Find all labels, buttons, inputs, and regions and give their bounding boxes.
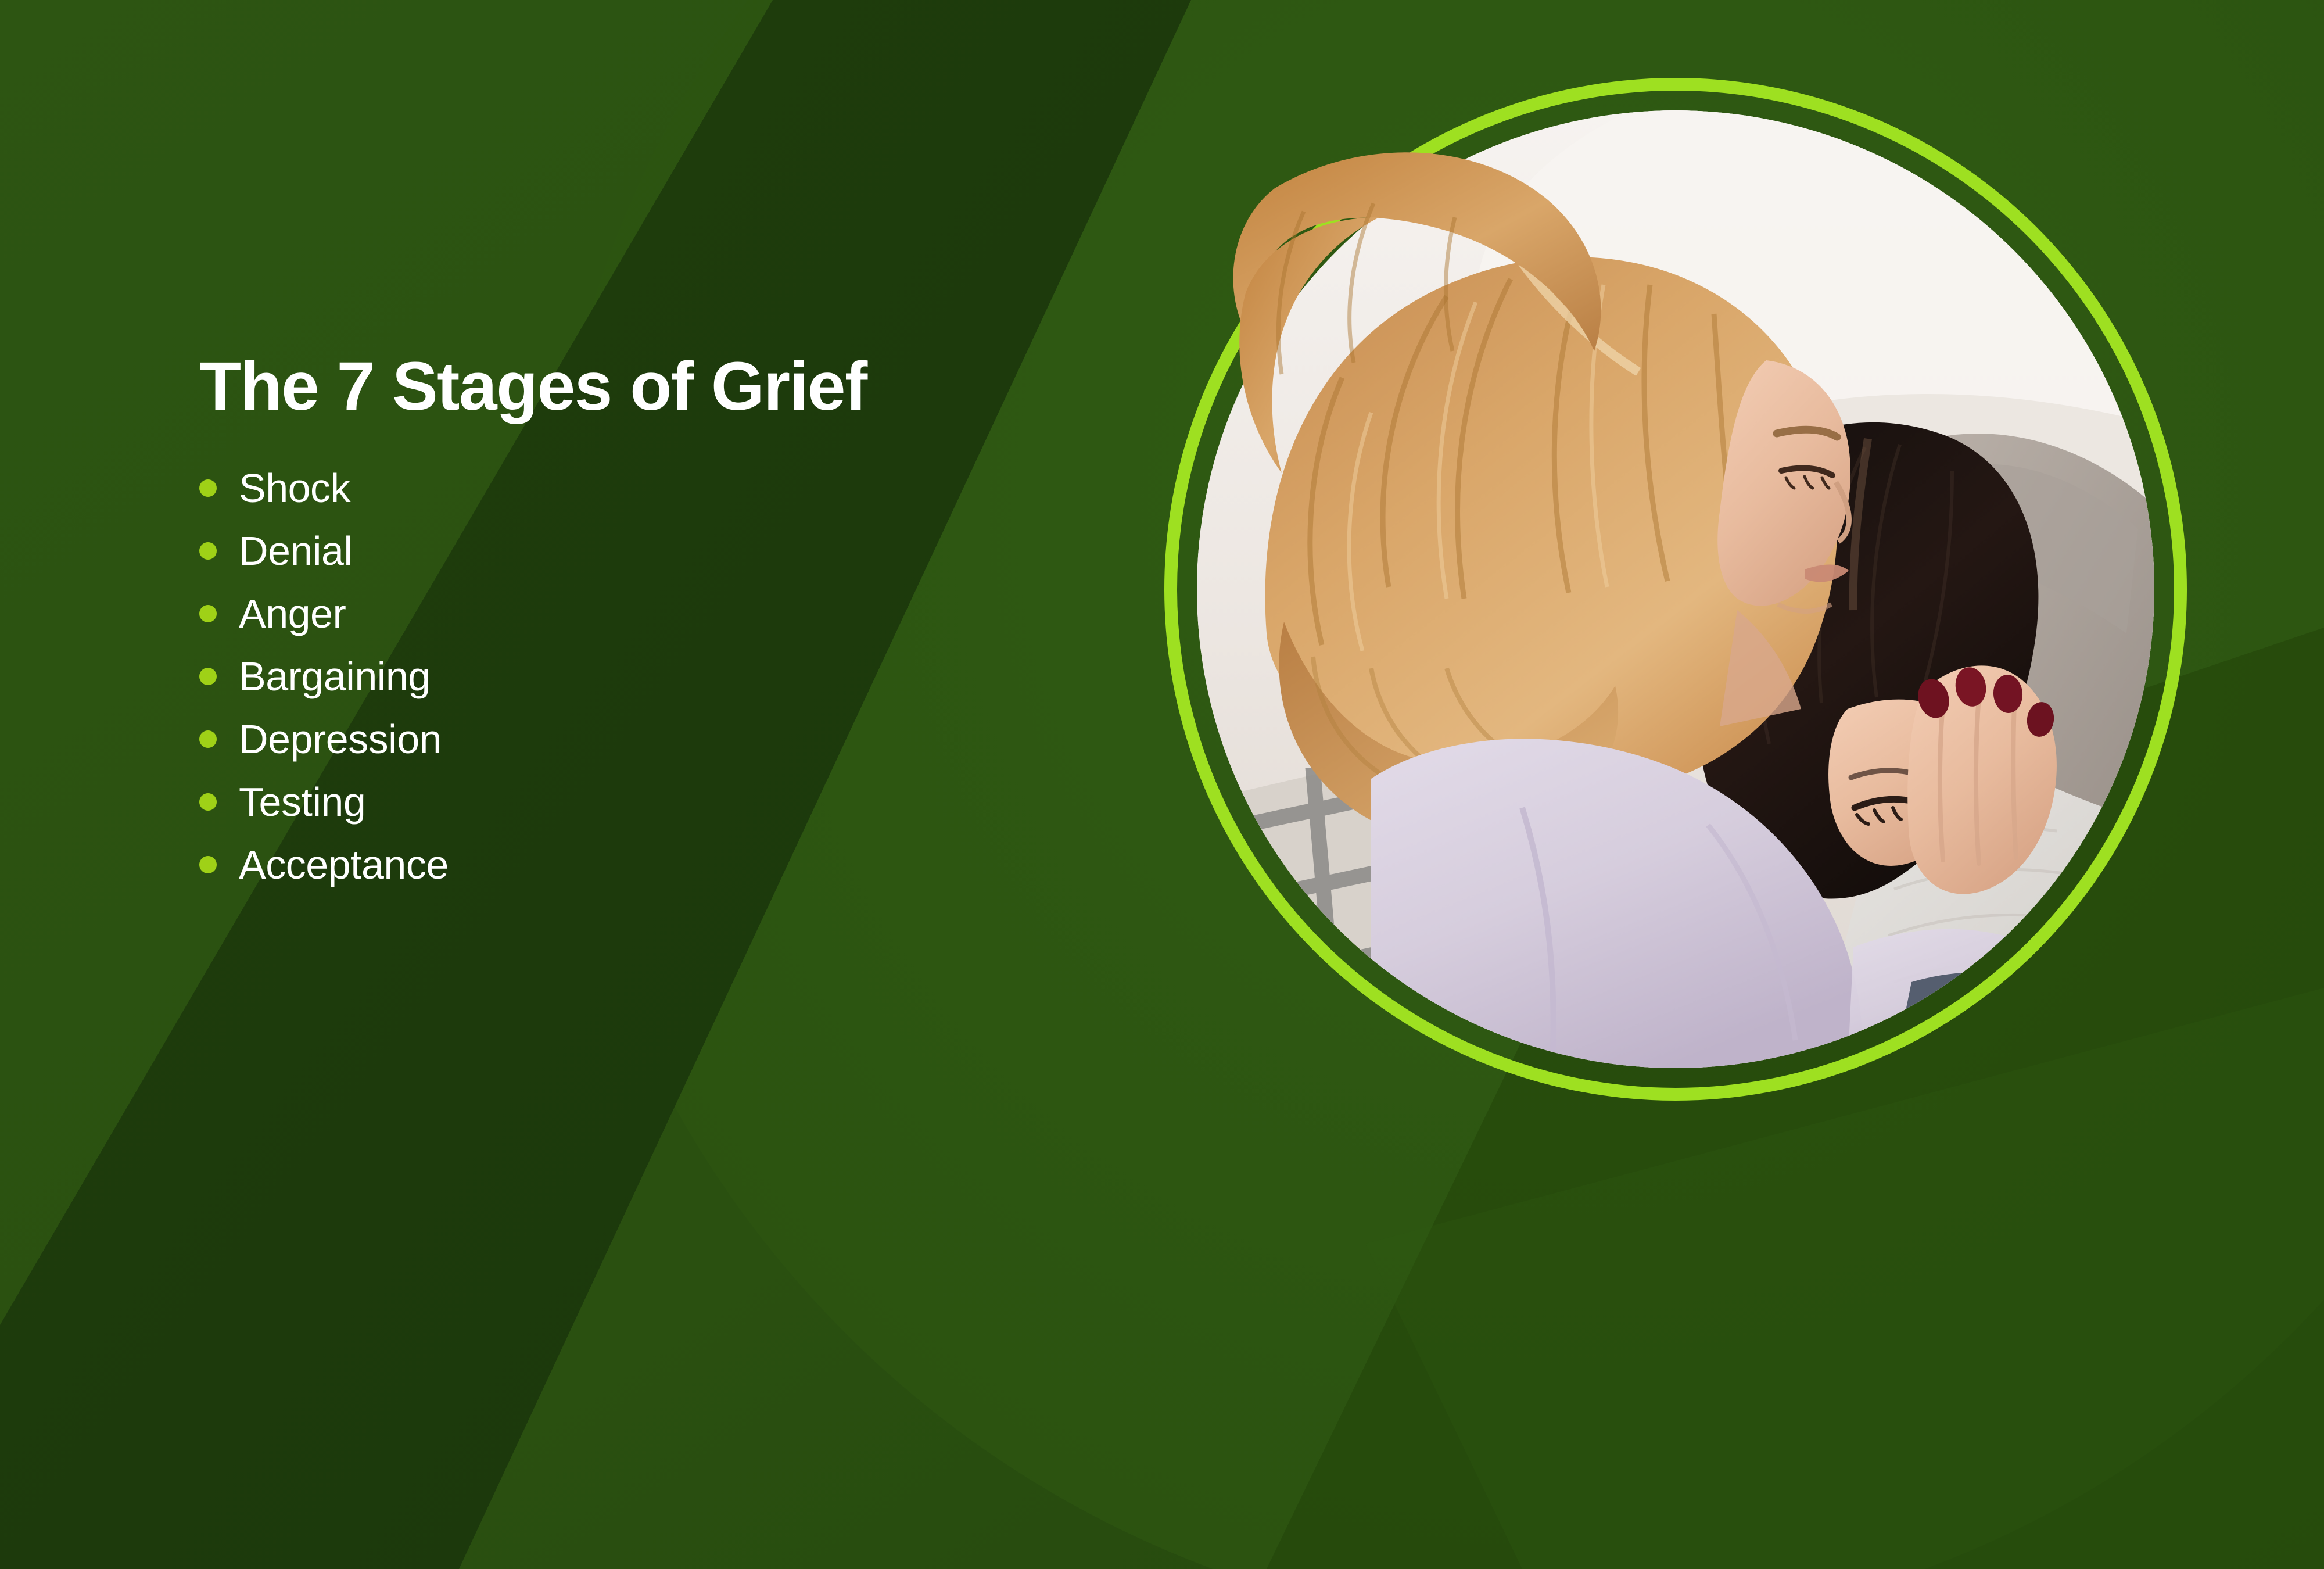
stage-label: Anger — [239, 593, 346, 634]
bullet-dot-icon — [199, 668, 217, 685]
stage-label: Bargaining — [239, 656, 431, 697]
list-item: Testing — [199, 771, 1071, 833]
bullet-dot-icon — [199, 605, 217, 622]
bullet-dot-icon — [199, 542, 217, 560]
list-item: Acceptance — [199, 833, 1071, 896]
stage-label: Shock — [239, 468, 350, 508]
stage-label: Denial — [239, 531, 352, 571]
text-content-column: The 7 Stages of Grief Shock Denial Anger… — [199, 351, 1071, 896]
bullet-dot-icon — [199, 730, 217, 748]
bullet-dot-icon — [199, 479, 217, 497]
list-item: Shock — [199, 457, 1071, 520]
list-item: Anger — [199, 582, 1071, 645]
bullet-dot-icon — [199, 856, 217, 873]
stage-label: Depression — [239, 719, 442, 760]
stage-label: Testing — [239, 782, 365, 822]
list-item: Denial — [199, 520, 1071, 582]
stage-label: Acceptance — [239, 844, 449, 885]
photo-clip-mask — [1197, 110, 2154, 1068]
grief-stages-slide: The 7 Stages of Grief Shock Denial Anger… — [0, 0, 2324, 1569]
comforting-embrace-photo — [1197, 110, 2154, 1068]
list-item: Bargaining — [199, 645, 1071, 708]
bullet-dot-icon — [199, 793, 217, 811]
stages-list: Shock Denial Anger Bargaining Depression… — [199, 457, 1071, 896]
list-item: Depression — [199, 708, 1071, 771]
slide-title: The 7 Stages of Grief — [199, 351, 1071, 423]
photo-circle — [1164, 78, 2187, 1101]
